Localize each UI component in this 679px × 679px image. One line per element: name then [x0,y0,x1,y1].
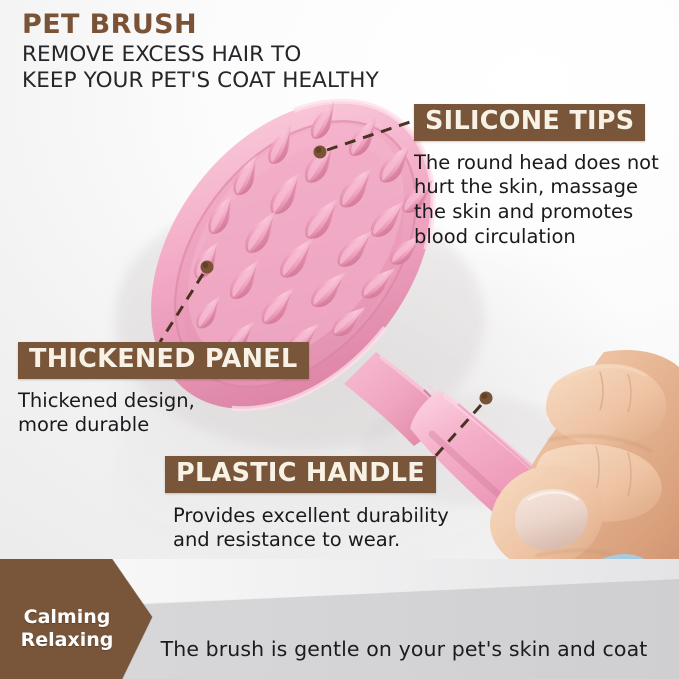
callout-plastic-handle: PLASTIC HANDLE Provides excellent durabi… [165,456,449,553]
callout-body-line: The round head does not [414,151,659,176]
callout-body-line: Thickened design, [18,389,309,414]
callout-body-line: Provides excellent durability [173,504,449,529]
callout-body-thickened-panel: Thickened design, more durable [18,389,309,439]
callout-body-line: the skin and promotes [414,200,659,225]
callout-label-plastic-handle: PLASTIC HANDLE [165,456,436,493]
callout-body-line: more durable [18,413,309,438]
page-subtitle: REMOVE EXCESS HAIR TO KEEP YOUR PET'S CO… [22,42,582,94]
callout-silicone-tips: SILICONE TIPS The round head does not hu… [414,104,659,250]
callout-body-line: hurt the skin, massage [414,175,659,200]
bottom-tagline: The brush is gentle on your pet's skin a… [140,637,668,661]
callout-label-thickened-panel: THICKENED PANEL [18,342,309,379]
callout-body-line: blood circulation [414,225,659,250]
subtitle-line-1: REMOVE EXCESS HAIR TO [22,42,582,68]
page-title: PET BRUSH [22,10,582,40]
bottom-banner: Calming Relaxing The brush is gentle on … [0,559,679,679]
callout-label-silicone-tips: SILICONE TIPS [414,104,645,141]
callout-body-silicone-tips: The round head does not hurt the skin, m… [414,151,659,251]
header: PET BRUSH REMOVE EXCESS HAIR TO KEEP YOU… [22,10,582,94]
infographic-page: FAOTUR [0,0,679,679]
badge-line-1: Calming [8,606,126,628]
callout-thickened-panel: THICKENED PANEL Thickened design, more d… [18,342,309,438]
subtitle-line-2: KEEP YOUR PET'S COAT HEALTHY [22,68,582,94]
callout-body-line: and resistance to wear. [173,528,449,553]
callout-body-plastic-handle: Provides excellent durability and resist… [173,504,449,554]
calming-relaxing-badge: Calming Relaxing [8,606,126,651]
badge-line-2: Relaxing [8,629,126,651]
